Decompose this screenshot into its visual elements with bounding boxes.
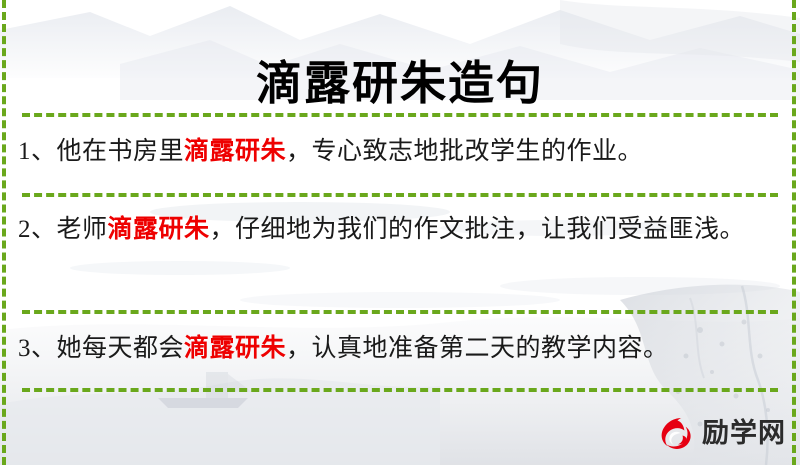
sentence-text-before-2: 老师 [57, 216, 108, 243]
divider-3 [22, 310, 778, 314]
divider-1 [22, 113, 778, 117]
idiom-highlight-1: 滴露研朱 [184, 138, 286, 165]
logo-text: 励学网 [702, 420, 786, 447]
idiom-highlight-2: 滴露研朱 [108, 216, 210, 243]
frame-border-left [2, 0, 6, 465]
sentence-list: 1、他在书房里滴露研朱，专心致志地批改学生的作业。 2、老师滴露研朱，仔细地为我… [0, 113, 800, 388]
sentence-text-before-1: 他在书房里 [57, 138, 185, 165]
sentence-number-1: 1、 [18, 138, 57, 165]
sentence-text-after-1: ，专心致志地批改学生的作业。 [286, 138, 643, 165]
sentence-item-3: 3、她每天都会滴露研朱，认真地准备第二天的教学内容。 [0, 310, 800, 388]
sentence-number-3: 3、 [18, 335, 57, 362]
sentence-text-after-3: ，认真地准备第二天的教学内容。 [286, 335, 669, 362]
sentence-card-page: 滴露研朱造句 1、他在书房里滴露研朱，专心致志地批改学生的作业。 2、老师滴露研… [0, 0, 800, 465]
frame-border-right [792, 0, 796, 465]
sentence-number-2: 2、 [18, 216, 57, 243]
divider-2 [22, 193, 778, 197]
divider-4 [22, 388, 778, 392]
red-swirl-flame-icon [655, 413, 695, 453]
sentence-item-1: 1、他在书房里滴露研朱，专心致志地批改学生的作业。 [0, 113, 800, 193]
site-logo[interactable]: 励学网 [655, 413, 786, 453]
page-title: 滴露研朱造句 [0, 55, 800, 113]
sentence-text-before-3: 她每天都会 [57, 335, 185, 362]
idiom-highlight-3: 滴露研朱 [184, 335, 286, 362]
sentence-text-after-2: ，仔细地为我们的作文批注，让我们受益匪浅。 [210, 216, 746, 243]
sentence-item-2: 2、老师滴露研朱，仔细地为我们的作文批注，让我们受益匪浅。 [0, 193, 800, 310]
